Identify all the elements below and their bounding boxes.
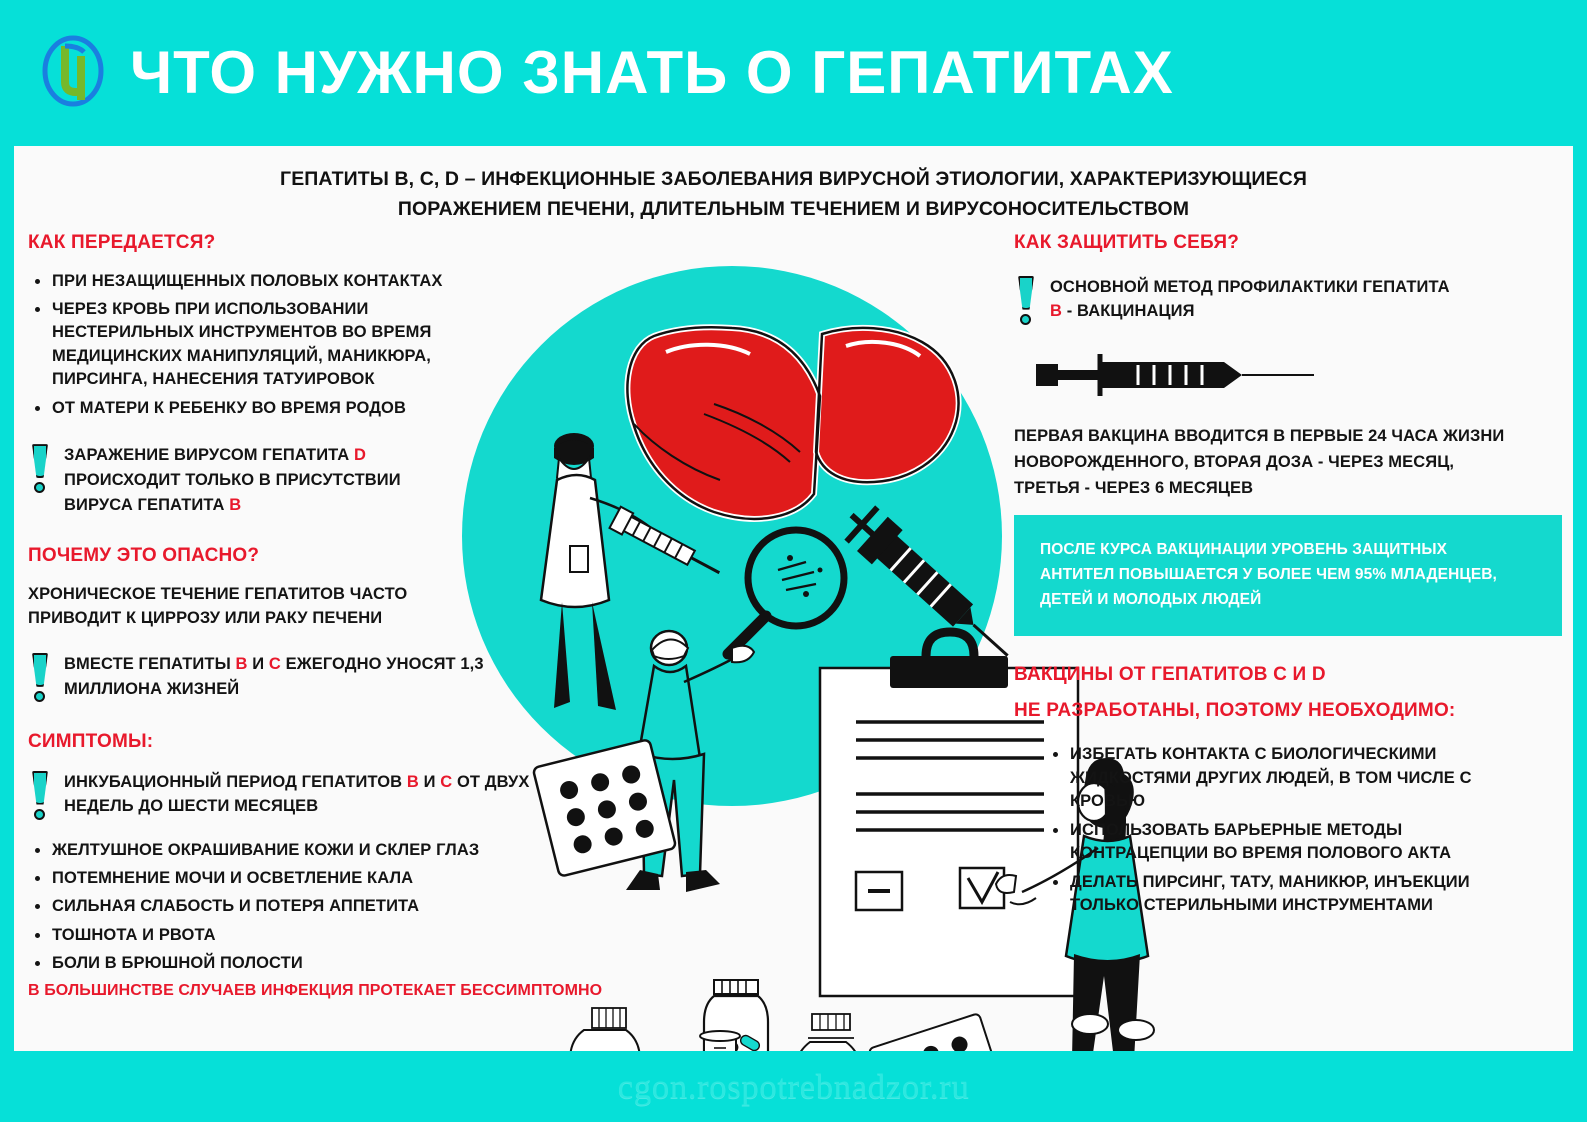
list-item: ИЗБЕГАТЬ КОНТАКТА С БИОЛОГИЧЕСКИМИ ЖИДКО… <box>1046 743 1516 813</box>
page-title: ЧТО НУЖНО ЗНАТЬ О ГЕПАТИТАХ <box>130 43 1587 103</box>
highlight-b: B <box>236 655 248 673</box>
note-incubation: ИНКУБАЦИОННЫЙ ПЕРИОД ГЕПАТИТОВ B И C ОТ … <box>28 769 548 823</box>
highlight-b: B <box>229 496 241 514</box>
syringe-illustration <box>1028 348 1562 407</box>
list-item: ПРИ НЕЗАЩИЩЕННЫХ ПОЛОВЫХ КОНТАКТАХ <box>28 270 588 293</box>
heading-transmission: КАК ПЕРЕДАЕТСЯ? <box>28 230 588 256</box>
poster-footer: cgon.rospotrebnadzor.ru <box>0 1051 1587 1122</box>
danger-text: ХРОНИЧЕСКОЕ ТЕЧЕНИЕ ГЕПАТИТОВ ЧАСТО ПРИВ… <box>28 583 418 631</box>
callout-line-1: ПОСЛЕ КУРСА ВАКЦИНАЦИИ УРОВЕНЬ ЗАЩИТНЫХ <box>1040 537 1536 562</box>
content-card: ГЕПАТИТЫ B, C, D – ИНФЕКЦИОННЫЕ ЗАБОЛЕВА… <box>14 146 1573 1051</box>
heading-symptoms: СИМПТОМЫ: <box>28 729 588 755</box>
heading-no-vaccine-line2: НЕ РАЗРАБОТАНЫ, ПОЭТОМУ НЕОБХОДИМО: <box>1014 698 1562 724</box>
capsule-bottle <box>794 1014 862 1051</box>
note-deaths: ВМЕСТЕ ГЕПАТИТЫ B И C ЕЖЕГОДНО УНОСЯТ 1,… <box>28 651 508 705</box>
prevention-list: ИЗБЕГАТЬ КОНТАКТА С БИОЛОГИЧЕСКИМИ ЖИДКО… <box>1014 743 1562 917</box>
pill-blister-pack-bottom <box>868 1013 1006 1051</box>
heading-no-vaccine-line1: ВАКЦИНЫ ОТ ГЕПАТИТОВ C И D <box>1014 662 1562 688</box>
highlight-c: C <box>269 655 281 673</box>
list-item: СИЛЬНАЯ СЛАБОСТЬ И ПОТЕРЯ АППЕТИТА <box>28 895 588 918</box>
exclamation-icon <box>28 444 52 496</box>
note-hepatitis-d-text: ЗАРАЖЕНИЕ ВИРУСОМ ГЕПАТИТА D ПРОИСХОДИТ … <box>64 442 448 517</box>
right-column: КАК ЗАЩИТИТЬ СЕБЯ? ОСНОВНОЙ МЕТОД ПРОФИЛ… <box>1014 230 1562 922</box>
vacc-part1: ОСНОВНОЙ МЕТОД ПРОФИЛАКТИКИ ГЕПАТИТА <box>1050 278 1450 296</box>
exclamation-icon <box>28 771 52 823</box>
incub-part1: ИНКУБАЦИОННЫЙ ПЕРИОД ГЕПАТИТОВ <box>64 773 407 791</box>
list-item: ЖЕЛТУШНОЕ ОКРАШИВАНИЕ КОЖИ И СКЛЕР ГЛАЗ <box>28 839 588 862</box>
left-column: КАК ПЕРЕДАЕТСЯ? ПРИ НЕЗАЩИЩЕННЫХ ПОЛОВЫХ… <box>28 230 588 981</box>
callout-line-3: ДЕТЕЙ И МОЛОДЫХ ЛЮДЕЙ <box>1040 587 1536 612</box>
note-vaccination: ОСНОВНОЙ МЕТОД ПРОФИЛАКТИКИ ГЕПАТИТА B -… <box>1014 274 1454 328</box>
list-item: БОЛИ В БРЮШНОЙ ПОЛОСТИ <box>28 952 588 975</box>
liquid-bottle-teal <box>570 1008 645 1051</box>
cgon-logo-icon <box>38 30 108 117</box>
list-item: ЧЕРЕЗ КРОВЬ ПРИ ИСПОЛЬЗОВАНИИ НЕСТЕРИЛЬН… <box>28 298 508 392</box>
blood-test-tube <box>700 1031 740 1051</box>
note-d-part1: ЗАРАЖЕНИЕ ВИРУСОМ ГЕПАТИТА <box>64 446 354 464</box>
note-hepatitis-d: ЗАРАЖЕНИЕ ВИРУСОМ ГЕПАТИТА D ПРОИСХОДИТ … <box>28 442 448 517</box>
logo-wrap <box>0 30 130 117</box>
highlight-d: D <box>354 446 366 464</box>
deaths-part2: И <box>248 655 269 673</box>
pill-bottle-center <box>704 980 768 1051</box>
heading-danger: ПОЧЕМУ ЭТО ОПАСНО? <box>28 543 588 569</box>
vaccination-schedule: ПЕРВАЯ ВАКЦИНА ВВОДИТСЯ В ПЕРВЫЕ 24 ЧАСА… <box>1014 423 1514 501</box>
deaths-part1: ВМЕСТЕ ГЕПАТИТЫ <box>64 655 236 673</box>
list-item: ПОТЕМНЕНИЕ МОЧИ И ОСВЕТЛЕНИЕ КАЛА <box>28 867 588 890</box>
exclamation-icon <box>28 653 52 705</box>
list-item: ИСПОЛЬЗОВАТЬ БАРЬЕРНЫЕ МЕТОДЫ КОНТРАЦЕПЦ… <box>1046 819 1516 866</box>
highlight-c: C <box>440 773 452 791</box>
note-vaccination-text: ОСНОВНОЙ МЕТОД ПРОФИЛАКТИКИ ГЕПАТИТА B -… <box>1050 274 1454 325</box>
intro-line-1: ГЕПАТИТЫ B, C, D – ИНФЕКЦИОННЫЕ ЗАБОЛЕВА… <box>14 164 1573 194</box>
footer-url: cgon.rospotrebnadzor.ru <box>618 1067 970 1107</box>
note-deaths-text: ВМЕСТЕ ГЕПАТИТЫ B И C ЕЖЕГОДНО УНОСЯТ 1,… <box>64 651 508 702</box>
list-item: ТОШНОТА И РВОТА <box>28 924 588 947</box>
intro-block: ГЕПАТИТЫ B, C, D – ИНФЕКЦИОННЫЕ ЗАБОЛЕВА… <box>14 164 1573 224</box>
antibodies-callout: ПОСЛЕ КУРСА ВАКЦИНАЦИИ УРОВЕНЬ ЗАЩИТНЫХ … <box>1014 515 1562 636</box>
list-item: ОТ МАТЕРИ К РЕБЕНКУ ВО ВРЕМЯ РОДОВ <box>28 397 588 420</box>
incub-part2: И <box>419 773 440 791</box>
poster-header: ЧТО НУЖНО ЗНАТЬ О ГЕПАТИТАХ <box>0 0 1587 146</box>
asymptomatic-warning: В БОЛЬШИНСТВЕ СЛУЧАЕВ ИНФЕКЦИЯ ПРОТЕКАЕТ… <box>28 982 602 1000</box>
vacc-part2: - ВАКЦИНАЦИЯ <box>1062 302 1195 320</box>
symptoms-list: ЖЕЛТУШНОЕ ОКРАШИВАНИЕ КОЖИ И СКЛЕР ГЛАЗ … <box>28 839 588 976</box>
list-item: ДЕЛАТЬ ПИРСИНГ, ТАТУ, МАНИКЮР, ИНЪЕКЦИИ … <box>1046 871 1516 918</box>
intro-line-2: ПОРАЖЕНИЕМ ПЕЧЕНИ, ДЛИТЕЛЬНЫМ ТЕЧЕНИЕМ И… <box>14 194 1573 224</box>
infographic-poster: ЧТО НУЖНО ЗНАТЬ О ГЕПАТИТАХ ГЕПАТИТЫ B, … <box>0 0 1587 1122</box>
note-incubation-text: ИНКУБАЦИОННЫЙ ПЕРИОД ГЕПАТИТОВ B И C ОТ … <box>64 769 548 820</box>
heading-protect: КАК ЗАЩИТИТЬ СЕБЯ? <box>1014 230 1562 256</box>
highlight-b: B <box>1050 302 1062 320</box>
highlight-b: B <box>407 773 419 791</box>
callout-line-2: АНТИТЕЛ ПОВЫШАЕТСЯ У БОЛЕЕ ЧЕМ 95% МЛАДЕ… <box>1040 562 1536 587</box>
transmission-list: ПРИ НЕЗАЩИЩЕННЫХ ПОЛОВЫХ КОНТАКТАХ ЧЕРЕЗ… <box>28 270 588 421</box>
exclamation-icon <box>1014 276 1038 328</box>
